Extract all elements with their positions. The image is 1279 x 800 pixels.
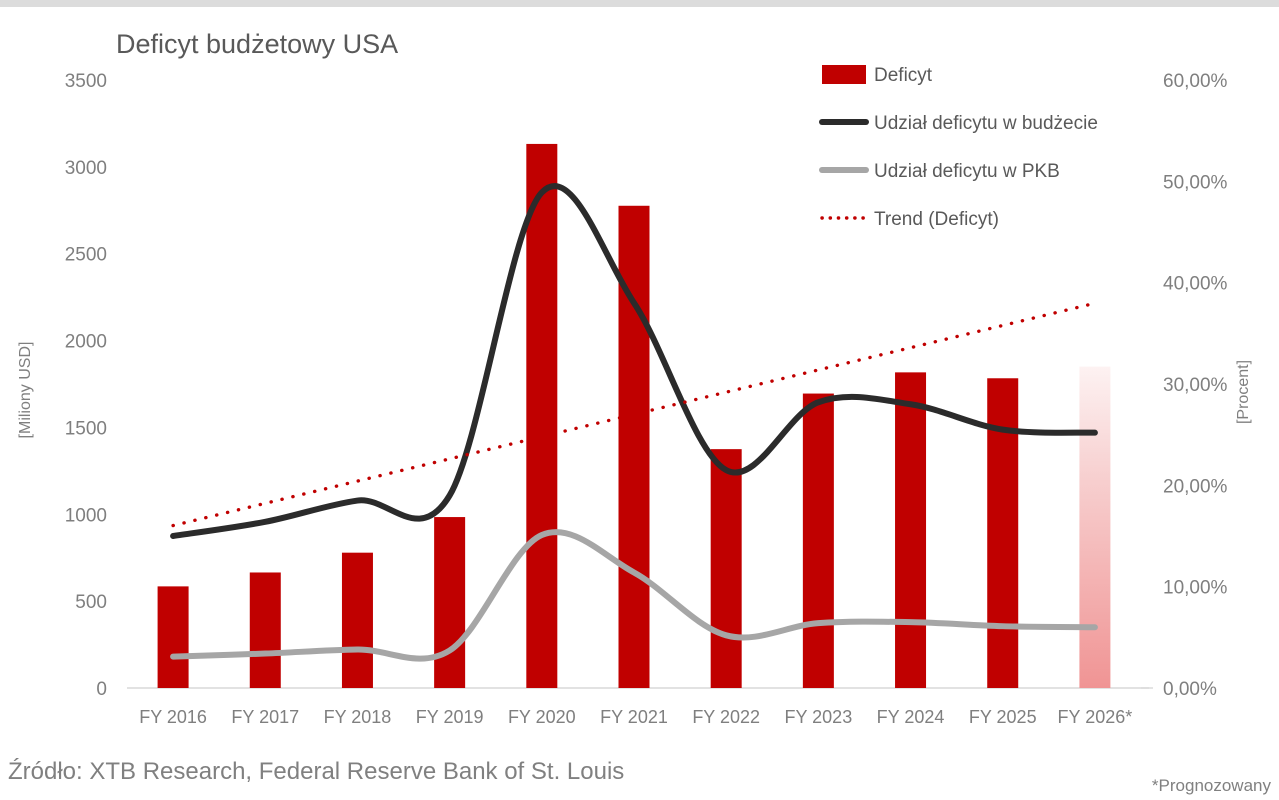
chart-title: Deficyt budżetowy USA — [116, 29, 398, 59]
category-label: FY 2016 — [139, 707, 207, 727]
legend-item-label: Udział deficytu w budżecie — [874, 113, 1098, 134]
bar-deficyt[interactable] — [434, 517, 465, 688]
category-label: FY 2022 — [692, 707, 760, 727]
y-axis-tick-label: 1500 — [65, 418, 107, 439]
legend-item[interactable]: Udział deficytu w budżecie — [822, 113, 1098, 134]
y-axis-tick-label: 3500 — [65, 71, 107, 92]
bar-deficyt[interactable] — [711, 449, 742, 688]
legend-item[interactable]: Deficyt — [822, 65, 933, 86]
legend-item-label: Udział deficytu w PKB — [874, 161, 1060, 182]
y-axis-tick-label: 2000 — [65, 332, 107, 353]
bar-deficyt[interactable] — [250, 572, 281, 688]
y-axis-title: [Miliony USD] — [17, 342, 34, 439]
y2-axis-tick-label: 40,00% — [1163, 274, 1228, 295]
legend-item[interactable]: Udział deficytu w PKB — [822, 161, 1060, 182]
y-axis-tick-label: 1000 — [65, 505, 107, 526]
category-label: FY 2021 — [600, 707, 668, 727]
category-label: FY 2026* — [1058, 707, 1133, 727]
category-label: FY 2025 — [969, 707, 1037, 727]
chart-canvas: Deficyt budżetowy USA [Miliony USD] [Pro… — [0, 0, 1279, 800]
forecast-footnote: *Prognozowany — [1152, 776, 1272, 795]
chart-legend: DeficytUdział deficytu w budżecieUdział … — [822, 65, 1098, 230]
y2-axis-tick-label: 0,00% — [1163, 679, 1217, 700]
right-axis-ticks: 0,00%10,00%20,00%30,00%40,00%50,00%60,00… — [1141, 71, 1228, 700]
category-label: FY 2017 — [231, 707, 299, 727]
y2-axis-title: [Procent] — [1235, 360, 1252, 424]
y2-axis-tick-label: 60,00% — [1163, 71, 1228, 92]
category-label: FY 2024 — [877, 707, 945, 727]
category-axis-labels: FY 2016FY 2017FY 2018FY 2019FY 2020FY 20… — [139, 707, 1132, 727]
legend-item[interactable]: Trend (Deficyt) — [822, 209, 999, 230]
budget-deficit-chart: Deficyt budżetowy USA [Miliony USD] [Pro… — [0, 0, 1279, 800]
y2-axis-tick-label: 20,00% — [1163, 476, 1228, 497]
bar-deficyt[interactable] — [342, 553, 373, 688]
category-label: FY 2023 — [784, 707, 852, 727]
y-axis-tick-label: 3000 — [65, 158, 107, 179]
y-axis-tick-label: 2500 — [65, 245, 107, 266]
category-label: FY 2018 — [324, 707, 392, 727]
bar-deficyt[interactable] — [526, 144, 557, 688]
y2-axis-tick-label: 30,00% — [1163, 375, 1228, 396]
y2-axis-tick-label: 10,00% — [1163, 578, 1228, 599]
bar-deficyt[interactable] — [803, 394, 834, 688]
bar-deficyt[interactable] — [895, 372, 926, 688]
bar-forecast[interactable] — [1079, 367, 1110, 688]
legend-item-label: Deficyt — [874, 65, 933, 86]
y-axis-tick-label: 500 — [75, 592, 107, 613]
y-axis-tick-label: 0 — [96, 679, 107, 700]
category-label: FY 2019 — [416, 707, 484, 727]
bar-deficyt[interactable] — [158, 586, 189, 688]
bar-deficyt[interactable] — [619, 206, 650, 688]
y2-axis-tick-label: 50,00% — [1163, 172, 1228, 193]
category-label: FY 2020 — [508, 707, 576, 727]
legend-item-label: Trend (Deficyt) — [874, 209, 999, 230]
legend-swatch-bar — [822, 65, 866, 84]
source-note: Źródło: XTB Research, Federal Reserve Ba… — [8, 758, 624, 785]
